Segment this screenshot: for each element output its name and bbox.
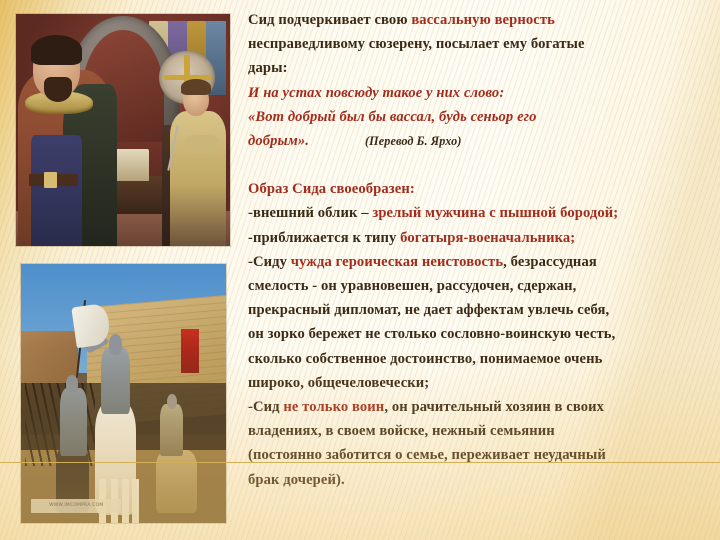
horizontal-divider-rule xyxy=(0,462,720,463)
intro-line-1-plain: Сид подчеркивает свою xyxy=(248,12,411,28)
quote-line-1: И на устах повсюду такое у них слово: xyxy=(248,81,714,105)
bullet-2-plain-before: -приближается к типу xyxy=(248,230,400,246)
throne-hall-scene xyxy=(16,14,230,246)
quote-line-3-row: добрым».(Перевод Б. Ярхо) xyxy=(248,129,714,153)
bullet-3-highlight: чужда героическая неистовость xyxy=(291,254,503,270)
bullet-4: -Сид не только воин, он рачительный хозя… xyxy=(248,395,714,419)
bullet-1-highlight: зрелый мужчина с пышной бородой; xyxy=(372,205,618,221)
bullet-3: -Сиду чужда героическая неистовость, без… xyxy=(248,250,714,274)
bullet-4-highlight: не только воин xyxy=(283,399,384,415)
red-banner-icon xyxy=(181,329,199,373)
bullet-4-plain-before: -Сид xyxy=(248,399,283,415)
bullet-3-plain-before: -Сиду xyxy=(248,254,291,270)
continuation-line-5: широко, общечеловечески; xyxy=(248,371,714,395)
intro-line-3: дары: xyxy=(248,56,714,80)
knight-figure-arm xyxy=(185,135,219,154)
el-cid-rider-helmet xyxy=(109,334,122,355)
white-horse-leg xyxy=(132,479,139,523)
el-cid-throne-hall-photo xyxy=(16,14,230,246)
white-horse-leg xyxy=(122,479,129,523)
tail-line-3: брак дочерей). xyxy=(248,468,714,492)
continuation-line-2: прекрасный дипломат, не дает аффектам ув… xyxy=(248,298,714,322)
tail-line-2: (постоянно заботится о семье, переживает… xyxy=(248,443,714,467)
king-figure-hair xyxy=(31,35,82,65)
king-figure-buckle xyxy=(44,172,57,188)
quote-line-3: добрым». xyxy=(248,133,309,149)
cavalry-scene: WWW.IMCOMPRA.COM xyxy=(21,264,226,523)
king-figure-tunic xyxy=(31,135,82,246)
intro-line-1: Сид подчеркивает свою вассальную верност… xyxy=(248,8,714,32)
quote-line-2: «Вот добрый был бы вассал, будь сеньор е… xyxy=(248,105,714,129)
section-heading: Образ Сида своеобразен: xyxy=(248,177,714,201)
left-rider-body xyxy=(60,388,87,455)
slide-text-column: Сид подчеркивает свою вассальную верност… xyxy=(248,8,714,492)
tan-horse xyxy=(156,450,197,512)
right-rider-body xyxy=(160,404,183,456)
left-rider-head xyxy=(66,375,78,393)
bullet-2: -приближается к типу богатыря-военачальн… xyxy=(248,226,714,250)
bullet-2-highlight: богатыря-военачальника; xyxy=(400,230,575,246)
el-cid-cavalry-photo: WWW.IMCOMPRA.COM xyxy=(21,264,226,523)
continuation-line-3: он зорко бережет не столько сословно-вои… xyxy=(248,322,714,346)
presentation-slide: WWW.IMCOMPRA.COM Сид подчеркивает свою в… xyxy=(0,0,720,540)
king-figure-beard xyxy=(44,77,72,103)
el-cid-rider-body xyxy=(101,347,130,414)
quote-attribution: (Перевод Б. Ярхо) xyxy=(309,129,462,153)
intro-line-1-highlight: вассальную верность xyxy=(411,12,555,28)
right-rider-head xyxy=(167,394,177,410)
intro-line-2: несправедливому сюзерену, посылает ему б… xyxy=(248,32,714,56)
paragraph-spacer xyxy=(248,153,714,177)
bullet-3-plain-after: , безрассудная xyxy=(503,254,597,270)
bullet-4-plain-after: , он рачительный хозяин в своих xyxy=(384,399,604,415)
tail-line-1: владениях, в своем войске, нежный семьян… xyxy=(248,419,714,443)
continuation-line-1: смелость - он уравновешен, рассудочен, с… xyxy=(248,274,714,298)
knight-figure-hair xyxy=(181,79,211,95)
photo-watermark: WWW.IMCOMPRA.COM xyxy=(31,499,121,512)
table-reliquary xyxy=(114,149,148,181)
knight-figure-body xyxy=(170,111,226,246)
continuation-line-4: сколько собственное достоинство, понимае… xyxy=(248,347,714,371)
bullet-1-plain-before: -внешний облик – xyxy=(248,205,372,221)
bullet-1: -внешний облик – зрелый мужчина с пышной… xyxy=(248,201,714,225)
